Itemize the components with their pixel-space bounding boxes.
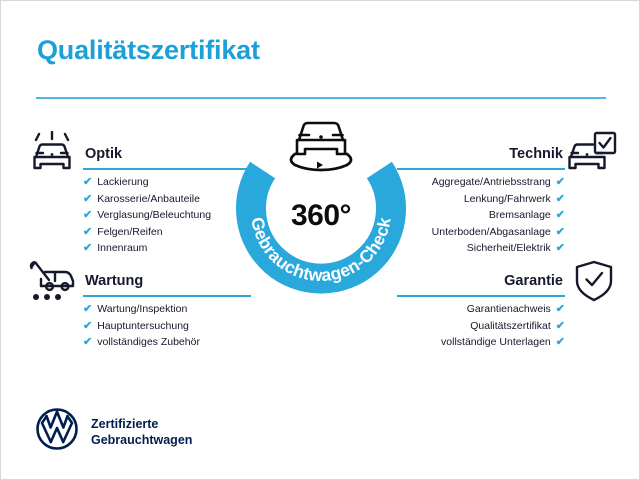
check-icon: ✔: [83, 301, 92, 318]
badge-360-gebrauchtwagen-check: Gebrauchtwagen-Check 360°: [229, 119, 413, 303]
section-technik-title: Technik: [397, 144, 565, 164]
list-item: Lenkung/Fahrwerk✔: [397, 191, 565, 208]
list-item-label: Aggregate/Antriebsstrang: [432, 174, 551, 191]
list-item: ✔Hauptuntersuchung: [83, 318, 251, 335]
check-icon: ✔: [556, 334, 565, 351]
list-item-label: vollständiges Zubehör: [97, 334, 200, 351]
footer-branding: Zertifizierte Gebrauchtwagen: [35, 407, 192, 456]
section-garantie-list: Garantienachweis✔ Qualitätszertifikat✔ v…: [397, 301, 565, 351]
check-icon: ✔: [556, 318, 565, 335]
section-garantie-title: Garantie: [397, 271, 565, 291]
section-wartung-header: Wartung: [83, 271, 251, 301]
shield-check-icon: [573, 259, 615, 308]
section-optik-divider: [83, 168, 251, 170]
list-item: ✔Innenraum: [83, 240, 251, 257]
check-icon: ✔: [83, 240, 92, 257]
section-wartung: Wartung ✔Wartung/Inspektion ✔Hauptunters…: [83, 271, 251, 351]
list-item: ✔Lackierung: [83, 174, 251, 191]
check-icon: ✔: [83, 318, 92, 335]
section-optik-header: Optik: [83, 144, 251, 174]
list-item-label: Hauptuntersuchung: [97, 318, 189, 335]
section-wartung-list: ✔Wartung/Inspektion ✔Hauptuntersuchung ✔…: [83, 301, 251, 351]
wrench-car-icon: [27, 259, 77, 308]
section-optik-list: ✔Lackierung ✔Karosserie/Anbauteile ✔Verg…: [83, 174, 251, 257]
certificate-sheet: Qualitätszertifikat: [0, 0, 640, 480]
list-item: Sicherheit/Elektrik✔: [397, 240, 565, 257]
list-item-label: Felgen/Reifen: [97, 224, 162, 241]
list-item-label: Wartung/Inspektion: [97, 301, 187, 318]
list-item: ✔Wartung/Inspektion: [83, 301, 251, 318]
list-item-label: Verglasung/Beleuchtung: [97, 207, 211, 224]
section-garantie-divider: [397, 295, 565, 297]
list-item: ✔Verglasung/Beleuchtung: [83, 207, 251, 224]
check-icon: ✔: [83, 174, 92, 191]
section-technik-header: Technik: [397, 144, 565, 174]
section-garantie: Garantie Garantienachweis✔ Qualitätszert…: [397, 271, 565, 351]
list-item-label: Lenkung/Fahrwerk: [464, 191, 551, 208]
list-item-label: Garantienachweis: [467, 301, 551, 318]
page-title: Qualitätszertifikat: [37, 35, 260, 66]
section-technik-list: Aggregate/Antriebsstrang✔ Lenkung/Fahrwe…: [397, 174, 565, 257]
section-optik: Optik ✔Lackierung ✔Karosserie/Anbauteile…: [83, 144, 251, 257]
section-garantie-header: Garantie: [397, 271, 565, 301]
check-icon: ✔: [556, 191, 565, 208]
section-wartung-title: Wartung: [83, 271, 251, 291]
section-technik: Technik Aggregate/Antriebsstrang✔ Lenkun…: [397, 144, 565, 257]
check-icon: ✔: [556, 301, 565, 318]
list-item: ✔Karosserie/Anbauteile: [83, 191, 251, 208]
list-item: vollständige Unterlagen✔: [397, 334, 565, 351]
footer-line-2: Gebrauchtwagen: [91, 433, 192, 447]
vw-logo: [35, 407, 79, 456]
footer-line-1: Zertifizierte: [91, 417, 158, 431]
check-icon: ✔: [83, 334, 92, 351]
check-icon: ✔: [556, 207, 565, 224]
list-item-label: Bremsanlage: [489, 207, 551, 224]
check-icon: ✔: [556, 174, 565, 191]
check-icon: ✔: [556, 224, 565, 241]
list-item: Bremsanlage✔: [397, 207, 565, 224]
list-item-label: Karosserie/Anbauteile: [97, 191, 200, 208]
list-item: Unterboden/Abgasanlage✔: [397, 224, 565, 241]
section-optik-title: Optik: [83, 144, 251, 164]
footer-brand-text: Zertifizierte Gebrauchtwagen: [91, 416, 192, 448]
list-item: ✔Felgen/Reifen: [83, 224, 251, 241]
list-item-label: Innenraum: [97, 240, 147, 257]
check-icon: ✔: [83, 224, 92, 241]
list-item-label: Lackierung: [97, 174, 148, 191]
list-item: Qualitätszertifikat✔: [397, 318, 565, 335]
list-item: ✔vollständiges Zubehör: [83, 334, 251, 351]
list-item: Garantienachweis✔: [397, 301, 565, 318]
section-wartung-divider: [83, 295, 251, 297]
car-rotate-icon: [279, 113, 363, 175]
list-item: Aggregate/Antriebsstrang✔: [397, 174, 565, 191]
list-item-label: Unterboden/Abgasanlage: [432, 224, 551, 241]
check-icon: ✔: [83, 191, 92, 208]
list-item-label: vollständige Unterlagen: [441, 334, 551, 351]
list-item-label: Qualitätszertifikat: [470, 318, 551, 335]
car-shine-icon: [27, 131, 77, 180]
list-item-label: Sicherheit/Elektrik: [467, 240, 551, 257]
check-icon: ✔: [83, 207, 92, 224]
section-technik-divider: [397, 168, 565, 170]
car-checkbox-icon: [567, 131, 617, 180]
check-icon: ✔: [556, 240, 565, 257]
title-divider: [36, 97, 606, 99]
